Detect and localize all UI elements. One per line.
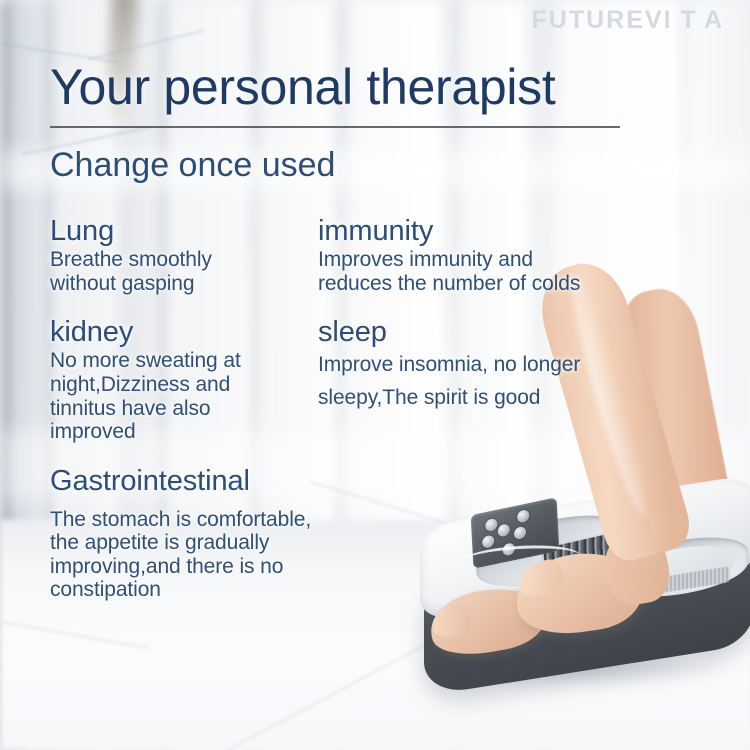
control-button-icon[interactable] bbox=[497, 523, 510, 537]
benefits-column-left: Lung Breathe smoothlywithout gasping kid… bbox=[50, 214, 315, 606]
benefit-sleep: sleep Improve insomnia, no longersleepy,… bbox=[318, 315, 638, 414]
control-button-icon[interactable] bbox=[485, 518, 498, 532]
benefit-body: No more sweating atnight,Dizziness andti… bbox=[50, 349, 315, 443]
benefit-title: immunity bbox=[318, 214, 638, 248]
benefit-title: sleep bbox=[318, 315, 638, 349]
brand-logo-spaced: ITA bbox=[664, 6, 732, 34]
control-button-icon[interactable] bbox=[482, 534, 495, 548]
spacer bbox=[50, 448, 315, 464]
benefit-body: The stomach is comfortable,the appetite … bbox=[50, 508, 315, 602]
benefit-title: kidney bbox=[50, 315, 315, 349]
spacer bbox=[318, 299, 638, 315]
benefit-body: Improve insomnia, no longersleepy,The sp… bbox=[318, 349, 638, 414]
product-photo bbox=[420, 380, 750, 710]
foot-massager-device bbox=[420, 500, 750, 690]
spacer bbox=[50, 498, 315, 508]
benefit-gastrointestinal: Gastrointestinal The stomach is comforta… bbox=[50, 464, 315, 602]
page-subtitle: Change once used bbox=[50, 146, 335, 185]
control-button-icon[interactable] bbox=[517, 509, 530, 523]
benefit-title: Lung bbox=[50, 214, 315, 248]
benefit-immunity: immunity Improves immunity andreduces th… bbox=[318, 214, 638, 295]
benefit-body: Breathe smoothlywithout gasping bbox=[50, 248, 315, 295]
promo-image-canvas: FUTUREVITA Your personal therapist Chang… bbox=[0, 0, 750, 750]
spacer bbox=[50, 299, 315, 315]
benefit-lung: Lung Breathe smoothlywithout gasping bbox=[50, 214, 315, 295]
benefit-body: Improves immunity andreduces the number … bbox=[318, 248, 638, 295]
benefit-kidney: kidney No more sweating atnight,Dizzines… bbox=[50, 315, 315, 443]
brand-logo-main: FUTUREV bbox=[532, 6, 664, 34]
control-button-icon[interactable] bbox=[514, 526, 527, 540]
page-title: Your personal therapist bbox=[50, 60, 555, 115]
brand-logo: FUTUREVITA bbox=[532, 6, 732, 35]
benefit-title: Gastrointestinal bbox=[50, 464, 315, 498]
title-divider bbox=[50, 126, 620, 128]
benefits-column-right: immunity Improves immunity andreduces th… bbox=[318, 214, 638, 419]
